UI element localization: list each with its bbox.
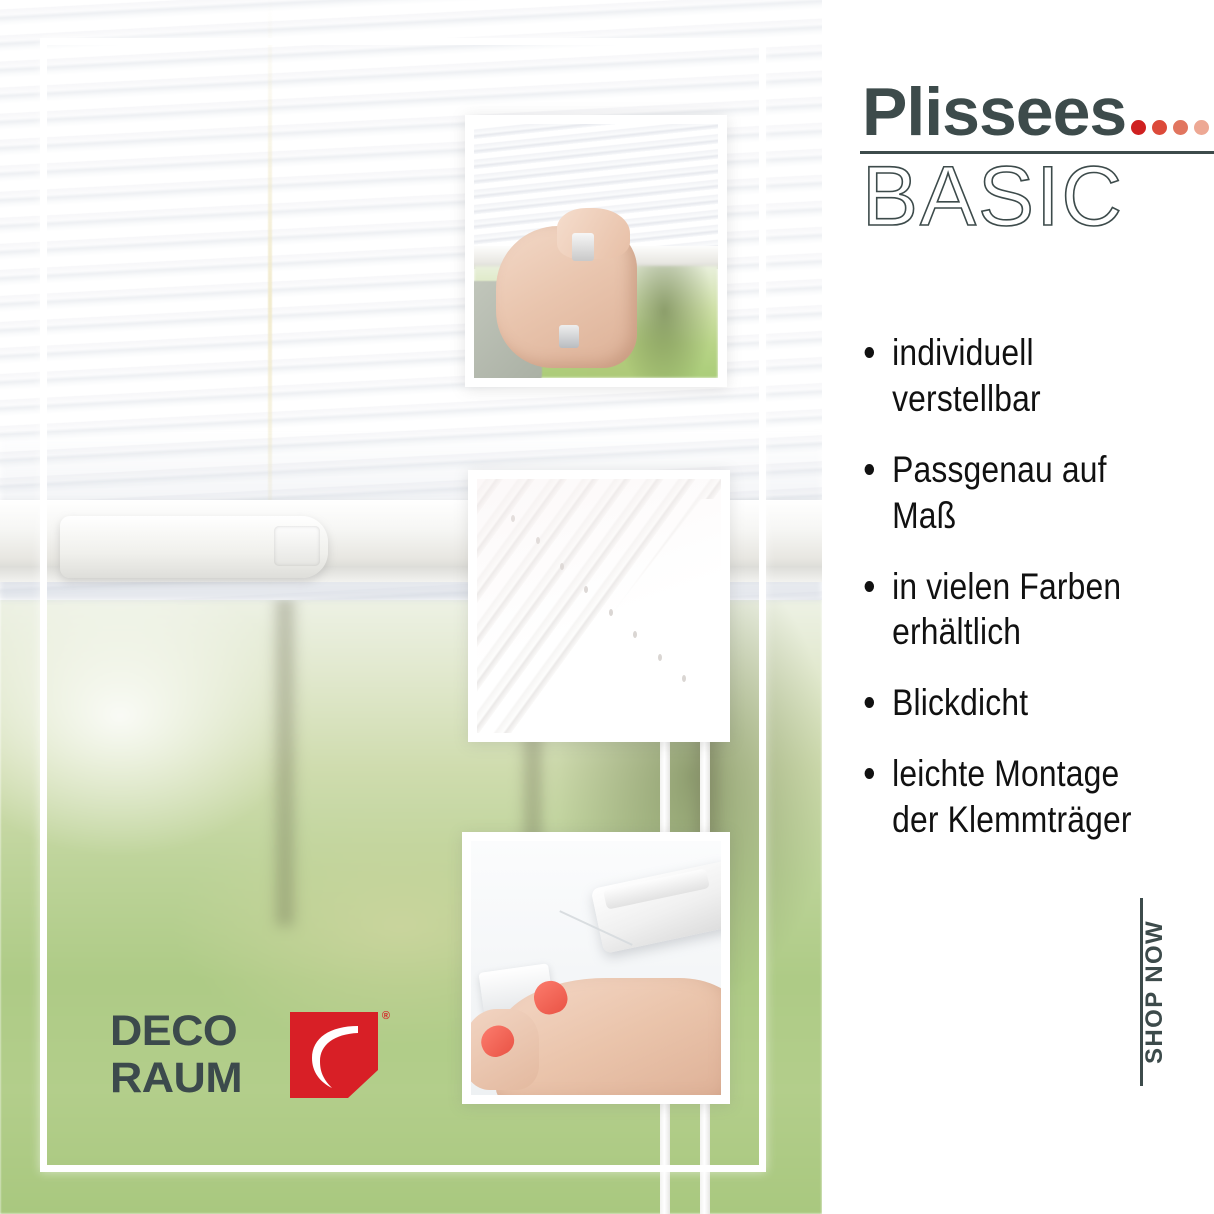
bullet-icon xyxy=(865,697,874,708)
headline-dot-2 xyxy=(1152,120,1167,135)
headline-dot-1 xyxy=(1131,120,1146,135)
background-photo-panel: DECO RAUM ® xyxy=(0,0,822,1214)
shop-now-button[interactable]: SHOP NOW xyxy=(1140,898,1177,1086)
feature-item: Passgenau auf Maß xyxy=(862,447,1163,539)
registered-trademark-icon: ® xyxy=(382,1010,390,1022)
decoraum-logo: DECO RAUM ® xyxy=(110,1012,378,1098)
content-panel: Plissees BASIC individuell verstellbar P… xyxy=(822,0,1214,1214)
promo-banner: DECO RAUM ® Plissees xyxy=(0,0,1214,1214)
feature-text: leichte Montage der Klemmträger xyxy=(892,753,1132,840)
photo-pleated-fabric-closeup xyxy=(468,470,730,742)
headline-main-row: Plissees xyxy=(862,78,1208,146)
feature-text: Passgenau auf Maß xyxy=(892,449,1107,536)
logo-wordmark: DECO RAUM xyxy=(110,1012,286,1098)
bullet-icon xyxy=(865,464,874,475)
photo-hand-adjusting-blind xyxy=(465,115,727,387)
headline-dot-row xyxy=(1131,120,1209,135)
bullet-icon xyxy=(865,347,874,358)
bullet-icon xyxy=(865,768,874,779)
feature-list: individuell verstellbar Passgenau auf Ma… xyxy=(862,330,1212,868)
feature-text: in vielen Farben erhältlich xyxy=(892,566,1121,653)
blind-bracket xyxy=(60,516,328,578)
logo-line-deco: DECO xyxy=(110,1011,293,1052)
logo-line-raum: RAUM xyxy=(110,1058,293,1099)
feature-item: Blickdicht xyxy=(862,680,1163,726)
shop-now-label: SHOP NOW xyxy=(1143,898,1167,1086)
photo-clamp-bracket-assembly xyxy=(462,832,730,1104)
headline-main-text: Plissees xyxy=(862,78,1126,146)
feature-text: individuell verstellbar xyxy=(892,332,1041,419)
bullet-icon xyxy=(865,581,874,592)
feature-item: in vielen Farben erhältlich xyxy=(862,564,1163,656)
headline-dot-4 xyxy=(1194,120,1209,135)
headline-block: Plissees BASIC xyxy=(862,78,1208,240)
feature-item: leichte Montage der Klemmträger xyxy=(862,751,1163,843)
headline-sub-text: BASIC xyxy=(862,152,1208,240)
logo-swoosh-mark-icon: ® xyxy=(290,1012,378,1098)
feature-text: Blickdicht xyxy=(892,682,1028,723)
feature-item: individuell verstellbar xyxy=(862,330,1163,422)
headline-dot-3 xyxy=(1173,120,1188,135)
